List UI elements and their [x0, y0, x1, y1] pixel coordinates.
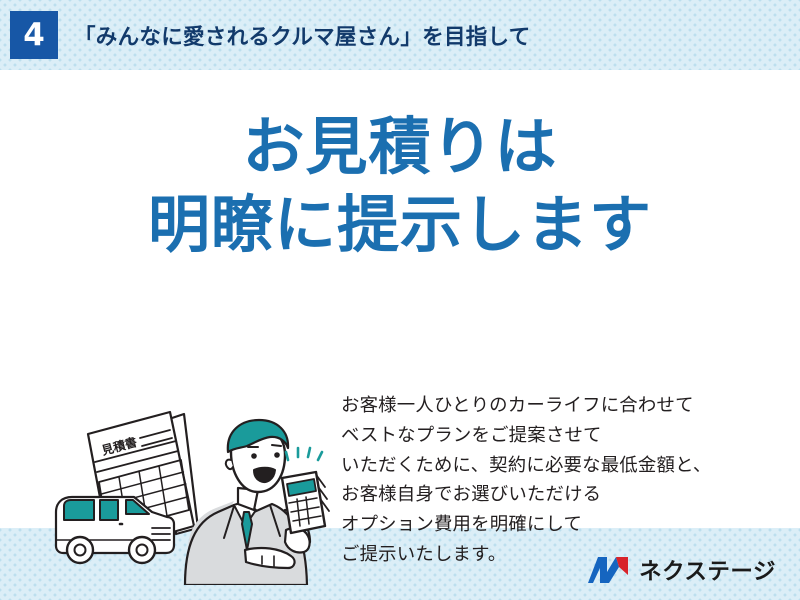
body-line-1: お客様一人ひとりのカーライフに合わせて: [341, 391, 781, 421]
body-paragraph: お客様一人ひとりのカーライフに合わせて ベストなプランをご提案させて いただくた…: [341, 391, 781, 570]
brand-name-text: ネクステージ: [639, 554, 776, 586]
body-line-4: お客様自身でお選びいただける: [341, 480, 781, 510]
header-title: 「みんなに愛されるクルマ屋さん」を目指して: [74, 20, 531, 51]
body-line-5: オプション費用を明確にして: [341, 510, 781, 540]
slide-canvas: 4 「みんなに愛されるクルマ屋さん」を目指して お見積りは 明瞭に提示します お…: [0, 0, 800, 600]
slide-header: 4 「みんなに愛されるクルマ屋さん」を目指して: [0, 0, 800, 70]
content-panel: お見積りは 明瞭に提示します お客様一人ひとりのカーライフに合わせて ベストなプ…: [0, 70, 800, 528]
headline-line-2: 明瞭に提示します: [0, 186, 800, 264]
footer-brand-logo: ネクステージ: [586, 554, 776, 586]
body-line-2: ベストなプランをご提案させて: [341, 421, 781, 451]
salesman-quotation-illustration: 見積書: [48, 400, 348, 585]
nextage-n-logo-icon: [586, 555, 630, 585]
section-number-badge: 4: [10, 11, 58, 59]
calculator-icon: [282, 472, 329, 533]
headline-line-1: お見積りは: [0, 108, 800, 186]
headline: お見積りは 明瞭に提示します: [0, 108, 800, 263]
sparkle-icon: [286, 448, 322, 460]
body-line-3: いただくために、契約に必要な最低金額と、: [341, 451, 781, 481]
